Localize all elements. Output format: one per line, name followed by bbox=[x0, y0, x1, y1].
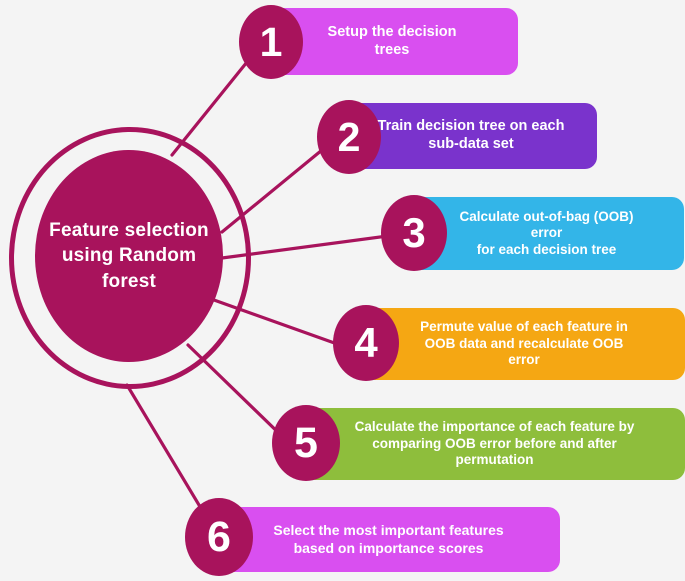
step-bar-6[interactable]: Select the most important features based… bbox=[217, 507, 560, 572]
step-label-2: Train decision tree on each sub-data set bbox=[368, 118, 575, 153]
connector-line-6 bbox=[127, 385, 205, 515]
step-label-4: Permute value of each feature in OOB dat… bbox=[410, 319, 638, 368]
step-badge-2[interactable]: 2 bbox=[317, 100, 381, 174]
hub-center: Feature selection using Random forest bbox=[35, 150, 223, 362]
step-bar-4[interactable]: Permute value of each feature in OOB dat… bbox=[363, 308, 685, 380]
step-label-1: Setup the decision trees bbox=[318, 24, 467, 59]
diagram-canvas: Feature selection using Random forest Se… bbox=[0, 0, 685, 581]
step-badge-4[interactable]: 4 bbox=[333, 305, 399, 381]
step-label-3: Calculate out-of-bag (OOB) error for eac… bbox=[450, 209, 644, 258]
step-bar-3[interactable]: Calculate out-of-bag (OOB) error for eac… bbox=[409, 197, 684, 270]
step-bar-1[interactable]: Setup the decision trees bbox=[266, 8, 518, 75]
step-label-5: Calculate the importance of each feature… bbox=[345, 419, 645, 468]
step-badge-3[interactable]: 3 bbox=[381, 195, 447, 271]
hub-title: Feature selection using Random forest bbox=[35, 218, 223, 293]
step-badge-6[interactable]: 6 bbox=[185, 498, 253, 576]
step-bar-5[interactable]: Calculate the importance of each feature… bbox=[304, 408, 685, 480]
step-label-6: Select the most important features based… bbox=[263, 522, 513, 556]
step-badge-5[interactable]: 5 bbox=[272, 405, 340, 481]
step-bar-2[interactable]: Train decision tree on each sub-data set bbox=[345, 103, 597, 169]
step-badge-1[interactable]: 1 bbox=[239, 5, 303, 79]
